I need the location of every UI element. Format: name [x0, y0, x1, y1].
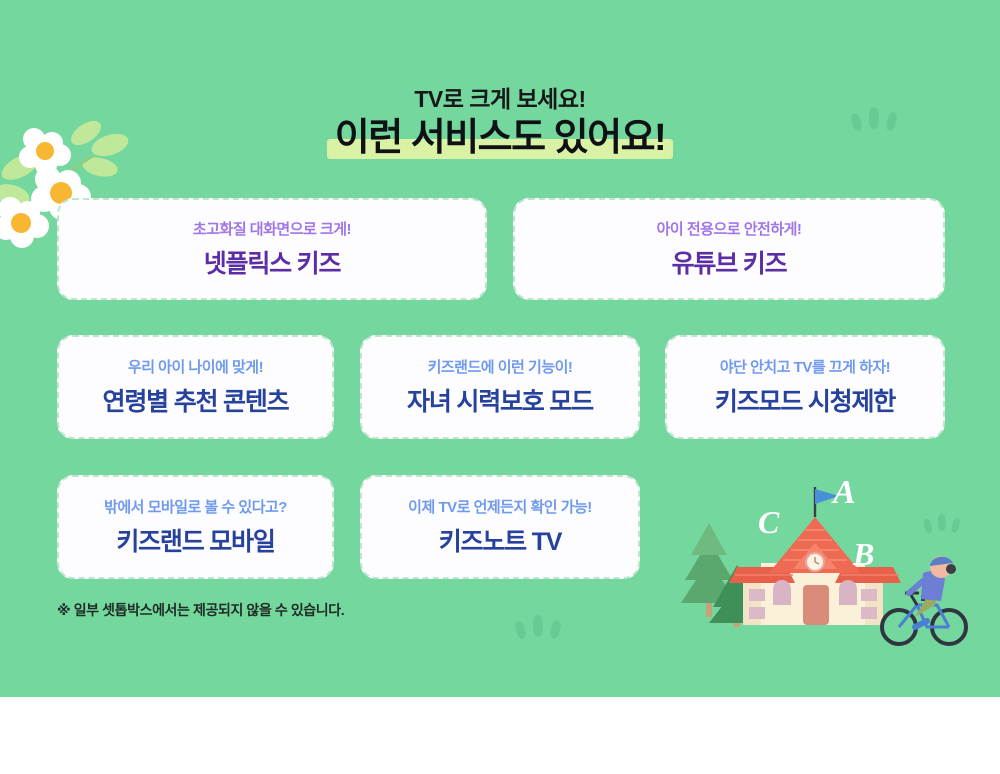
service-card-title: 유튜브 키즈 — [672, 244, 787, 280]
service-card-eye-protection-mode[interactable]: 키즈랜드에 이런 기능이! 자녀 시력보호 모드 — [360, 335, 640, 439]
promo-graphic: TV로 크게 보세요! 이런 서비스도 있어요! 초고화질 대화면으로 크게! … — [0, 0, 1000, 774]
service-card-sub: 아이 전용으로 안전하게! — [657, 218, 802, 239]
service-card-netflix-kids[interactable]: 초고화질 대화면으로 크게! 넷플릭스 키즈 — [57, 198, 487, 300]
service-card-title: 키즈모드 시청제한 — [715, 382, 895, 418]
service-card-title: 키즈노트 TV — [439, 522, 562, 558]
service-card-sub: 이제 TV로 언제든지 확인 가능! — [408, 496, 592, 517]
school-illustration: A B C — [665, 455, 985, 660]
service-card-sub: 키즈랜드에 이런 기능이! — [428, 356, 573, 377]
green-panel: TV로 크게 보세요! 이런 서비스도 있어요! 초고화질 대화면으로 크게! … — [0, 0, 1000, 697]
service-card-sub: 야단 안치고 TV를 끄게 하자! — [720, 356, 890, 377]
headline-text: 이런 서비스도 있어요! — [335, 117, 665, 159]
service-card-title: 넷플릭스 키즈 — [204, 244, 341, 280]
footprint-marks-icon — [512, 612, 572, 646]
letter-c: C — [758, 504, 780, 540]
footnote-text: ※ 일부 셋톱박스에서는 제공되지 않을 수 있습니다. — [57, 600, 344, 620]
service-card-kidsnote-tv[interactable]: 이제 TV로 언제든지 확인 가능! 키즈노트 TV — [360, 475, 640, 579]
service-card-title: 연령별 추천 콘텐츠 — [103, 382, 289, 418]
service-card-sub: 초고화질 대화면으로 크게! — [193, 218, 351, 239]
letter-b: B — [852, 536, 874, 572]
service-card-title: 자녀 시력보호 모드 — [407, 382, 593, 418]
letter-a: A — [831, 474, 856, 511]
service-card-sub: 밖에서 모바일로 볼 수 있다고? — [104, 496, 287, 517]
page-title: 이런 서비스도 있어요! — [0, 115, 1000, 163]
service-card-kidsland-mobile[interactable]: 밖에서 모바일로 볼 수 있다고? 키즈랜드 모바일 — [57, 475, 334, 579]
cyclist — [882, 556, 966, 644]
service-card-youtube-kids[interactable]: 아이 전용으로 안전하게! 유튜브 키즈 — [513, 198, 945, 300]
service-card-age-recommended-content[interactable]: 우리 아이 나이에 맞게! 연령별 추천 콘텐츠 — [57, 335, 334, 439]
service-card-sub: 우리 아이 나이에 맞게! — [128, 356, 263, 377]
service-card-kids-mode-viewing-limit[interactable]: 야단 안치고 TV를 끄게 하자! 키즈모드 시청제한 — [665, 335, 945, 439]
service-card-title: 키즈랜드 모바일 — [116, 522, 274, 558]
page-kicker: TV로 크게 보세요! — [0, 80, 1000, 114]
